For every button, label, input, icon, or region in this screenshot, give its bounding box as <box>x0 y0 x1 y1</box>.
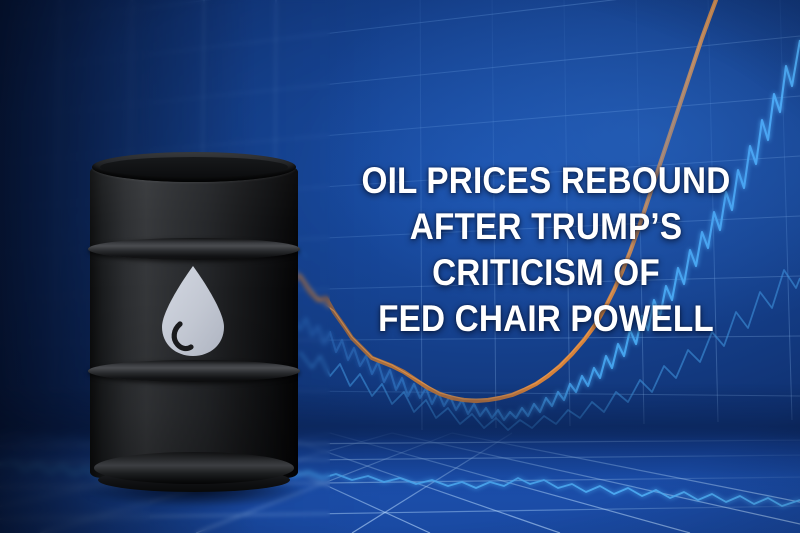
headline-line-2: AFTER TRUMP’S <box>344 204 747 250</box>
barrel-top-lid <box>100 157 288 177</box>
headline-line-3: CRITICISM OF <box>344 250 747 296</box>
poster-canvas: OIL PRICES REBOUND AFTER TRUMP’S CRITICI… <box>0 0 800 533</box>
barrel-bottom-rim <box>94 452 294 484</box>
headline-line-4: FED CHAIR POWELL <box>344 296 747 342</box>
headline-line-1: OIL PRICES REBOUND <box>344 158 747 204</box>
barrel-rib-lower <box>88 360 300 382</box>
oil-barrel <box>88 152 300 494</box>
barrel-rib-upper <box>88 238 300 260</box>
headline-block: OIL PRICES REBOUND AFTER TRUMP’S CRITICI… <box>322 158 770 342</box>
oil-droplet-icon <box>156 264 230 358</box>
